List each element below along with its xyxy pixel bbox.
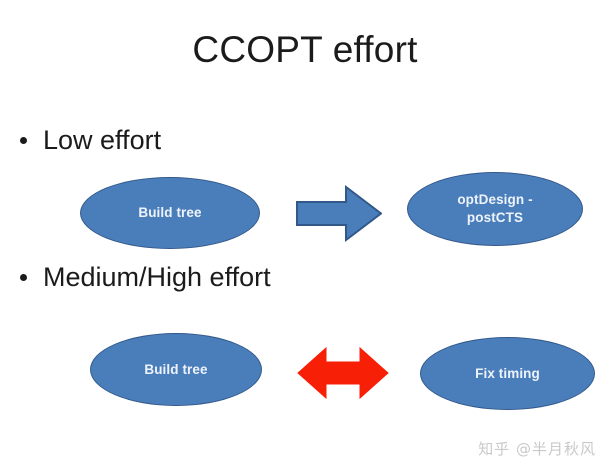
node-fix-timing[interactable]: Fix timing <box>420 337 595 410</box>
bullet-item-low-effort: Low effort <box>20 125 161 156</box>
node-label: Fix timing <box>465 365 550 383</box>
node-build-tree-medium[interactable]: Build tree <box>90 333 262 406</box>
node-label-line2: postCTS <box>467 210 523 225</box>
page-title: CCOPT effort <box>0 30 610 71</box>
bullet-item-label: Medium/High effort <box>43 262 271 293</box>
node-label: Build tree <box>134 361 217 379</box>
node-optdesign-postcts[interactable]: optDesign - postCTS <box>407 172 583 246</box>
node-build-tree-low[interactable]: Build tree <box>80 177 260 249</box>
slide-canvas: CCOPT effort Low effort Build tree optDe… <box>0 0 610 467</box>
left-right-arrow-icon <box>297 347 389 399</box>
bullet-dot-icon <box>20 137 27 144</box>
node-label: Build tree <box>128 204 211 222</box>
watermark: 知乎 @半月秋风 <box>478 438 596 459</box>
bullet-dot-icon <box>20 274 27 281</box>
bullet-item-label: Low effort <box>43 125 161 156</box>
node-label-multiline: optDesign - postCTS <box>447 191 542 227</box>
bullet-item-medium-high-effort: Medium/High effort <box>20 262 271 293</box>
right-arrow-icon <box>296 185 382 242</box>
node-label-line1: optDesign - <box>457 192 532 207</box>
